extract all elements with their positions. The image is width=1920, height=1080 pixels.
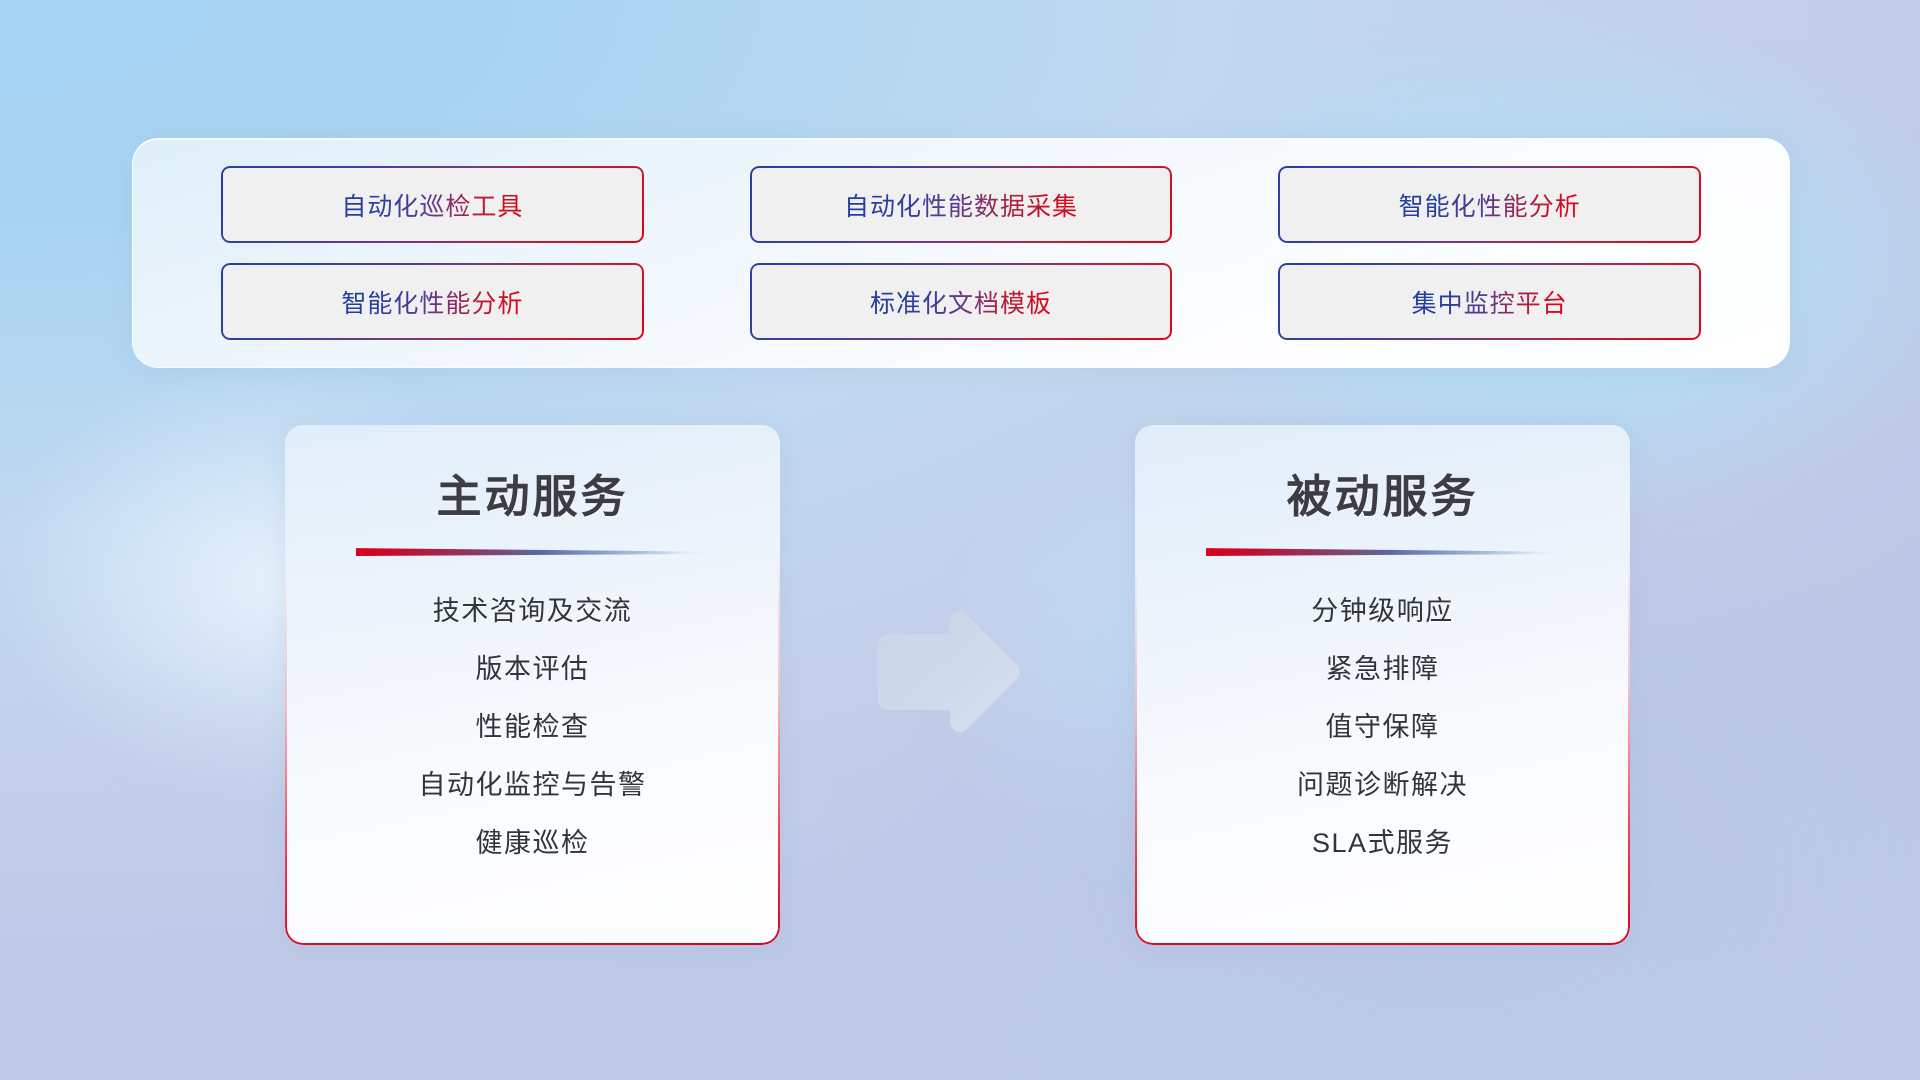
service-card-body: 主动服务 技术咨询及交流 版本评估 性能检查 自动化监控与告警 健康巡检 bbox=[285, 425, 780, 945]
service-card-title: 主动服务 bbox=[436, 460, 628, 525]
service-item: 值守保障 bbox=[1326, 698, 1440, 756]
title-divider bbox=[356, 547, 710, 556]
capability-pill-standard-doc-template[interactable]: 标准化文档模板 bbox=[750, 263, 1173, 340]
service-item-list: 技术咨询及交流 版本评估 性能检查 自动化监控与告警 健康巡检 bbox=[285, 582, 780, 872]
service-item: 分钟级响应 bbox=[1311, 582, 1454, 640]
title-divider bbox=[1206, 547, 1560, 556]
service-item: 版本评估 bbox=[476, 640, 590, 698]
capability-pill-central-monitor-platform[interactable]: 集中监控平台 bbox=[1278, 263, 1701, 340]
title-divider-bar bbox=[356, 547, 710, 556]
service-item: 健康巡检 bbox=[476, 814, 590, 872]
service-item: 性能检查 bbox=[476, 698, 590, 756]
service-item: 问题诊断解决 bbox=[1297, 756, 1468, 814]
capability-pill-intelligent-perf-analysis-1[interactable]: 智能化性能分析 bbox=[1278, 166, 1701, 243]
capability-pill-label: 智能化性能分析 bbox=[341, 284, 523, 320]
capability-pill-label: 智能化性能分析 bbox=[1399, 187, 1581, 223]
service-item: 紧急排障 bbox=[1326, 640, 1440, 698]
capability-panel: 自动化巡检工具 自动化性能数据采集 智能化性能分析 智能化性能分析 标准化文档模… bbox=[132, 138, 1790, 368]
capability-pill-auto-inspection-tool[interactable]: 自动化巡检工具 bbox=[221, 166, 644, 243]
service-item-list: 分钟级响应 紧急排障 值守保障 问题诊断解决 SLA式服务 bbox=[1135, 582, 1630, 872]
capability-pill-label: 自动化性能数据采集 bbox=[844, 187, 1078, 223]
capability-pill-label: 自动化巡检工具 bbox=[341, 187, 523, 223]
title-divider-bar bbox=[1206, 547, 1560, 556]
service-card-title: 被动服务 bbox=[1286, 460, 1478, 525]
capability-pill-label: 标准化文档模板 bbox=[870, 284, 1052, 320]
service-item: 自动化监控与告警 bbox=[419, 756, 647, 814]
service-card-reactive[interactable]: 被动服务 分钟级响应 紧急排障 值守保障 问题诊断解决 SLA式服务 bbox=[1135, 425, 1630, 945]
service-card-body: 被动服务 分钟级响应 紧急排障 值守保障 问题诊断解决 SLA式服务 bbox=[1135, 425, 1630, 945]
capability-pill-label: 集中监控平台 bbox=[1412, 284, 1568, 320]
capability-grid: 自动化巡检工具 自动化性能数据采集 智能化性能分析 智能化性能分析 标准化文档模… bbox=[133, 139, 1789, 367]
service-item: 技术咨询及交流 bbox=[433, 582, 633, 640]
service-card-proactive[interactable]: 主动服务 技术咨询及交流 版本评估 性能检查 自动化监控与告警 健康巡检 bbox=[285, 425, 780, 945]
diagram-canvas: 自动化巡检工具 自动化性能数据采集 智能化性能分析 智能化性能分析 标准化文档模… bbox=[0, 0, 1920, 1080]
service-item: SLA式服务 bbox=[1312, 814, 1453, 872]
capability-pill-auto-perf-data-collection[interactable]: 自动化性能数据采集 bbox=[750, 166, 1173, 243]
capability-pill-intelligent-perf-analysis-2[interactable]: 智能化性能分析 bbox=[221, 263, 644, 340]
arrow-right-icon bbox=[866, 608, 1032, 736]
